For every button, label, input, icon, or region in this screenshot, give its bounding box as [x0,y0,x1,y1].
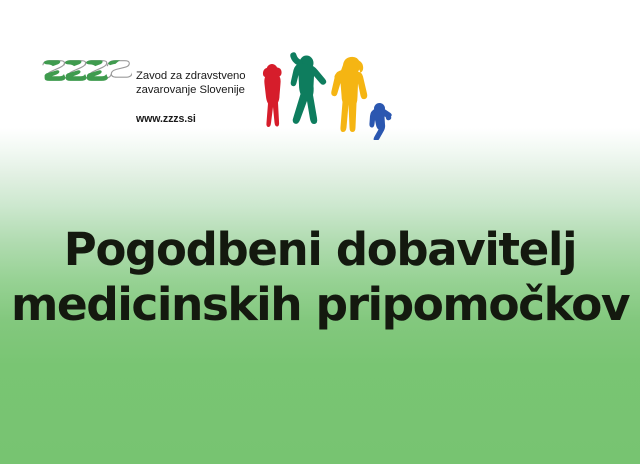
header-band: Zavod za zdravstveno zavarovanje Sloveni… [0,0,640,140]
website-url: www.zzzs.si [136,113,196,125]
figure-yellow-adult [331,57,367,132]
brand-block: Zavod za zdravstveno zavarovanje Sloveni… [40,56,255,136]
zzzs-logo [40,56,132,92]
figure-green-adult [290,52,326,124]
page-title-line-2: medicinskih pripomočkov [0,277,640,332]
poster-canvas: Zavod za zdravstveno zavarovanje Sloveni… [0,0,640,464]
figure-blue-child [369,103,391,140]
people-figures-graphic [258,52,398,140]
figure-red-adult [263,64,282,127]
page-title: Pogodbeni dobavitelj medicinskih pripomo… [0,222,640,332]
page-title-line-1: Pogodbeni dobavitelj [0,222,640,277]
